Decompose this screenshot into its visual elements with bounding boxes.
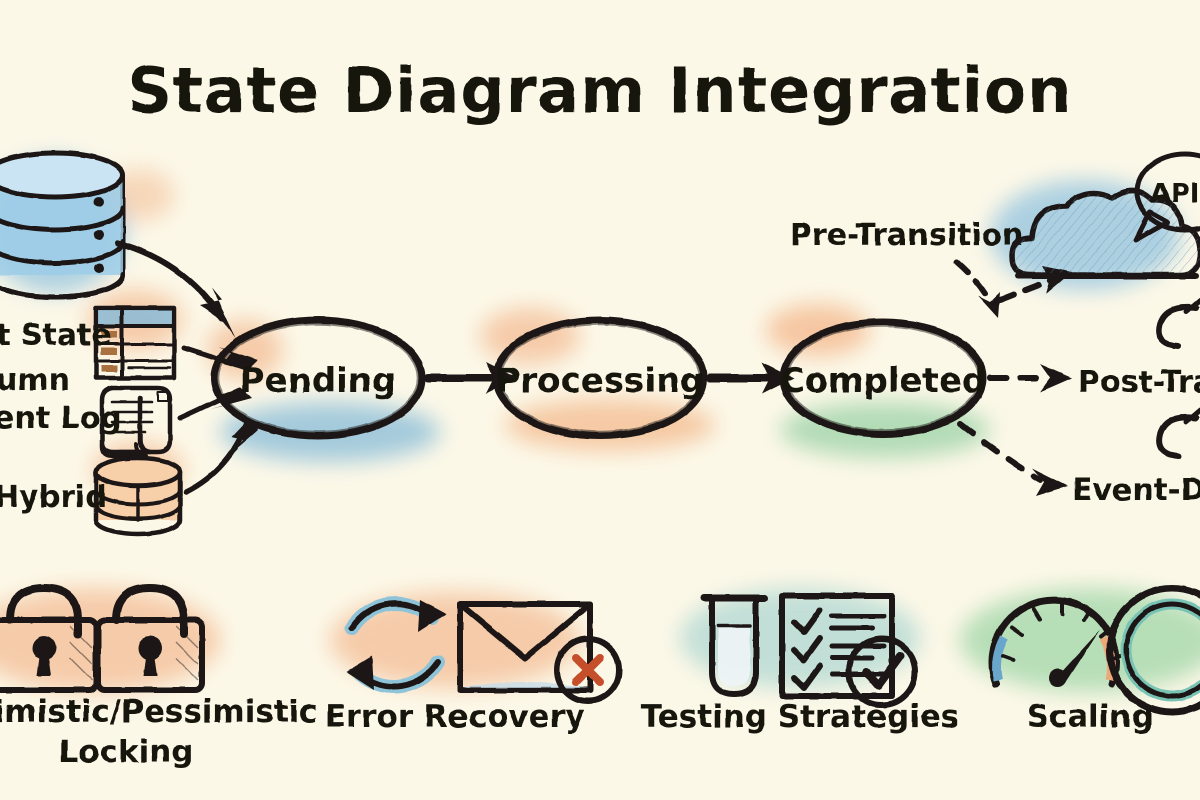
api-badge-label: API [1151, 179, 1200, 209]
state-label-processing: Processing [496, 361, 705, 401]
source-label-1: ent Log [0, 401, 122, 436]
source-label-2: Hybrid [0, 480, 107, 515]
hook-arrow-icon-0 [1159, 300, 1200, 346]
pre-transition-label: Pre-Transition [790, 218, 1023, 253]
concept-label-locking-line1: imistic/Pessimistic [0, 694, 318, 730]
state-label-completed: Completed [780, 361, 986, 401]
cylinder-icon [96, 458, 180, 534]
output-arrow-post-transition [990, 364, 1072, 392]
concept-label-locking-line2: Locking [59, 734, 194, 770]
page-title: State Diagram Integration [127, 54, 1072, 127]
hook-arrow-icon-1 [1159, 410, 1200, 456]
concept-label-scaling: Scaling [1026, 699, 1153, 735]
diagram-canvas: State Diagram Integration [0, 0, 1200, 800]
diagram-illustration: State Diagram Integration [0, 0, 1200, 800]
concept-label-testing: Testing Strategies [641, 699, 960, 735]
source-label-0-line1: t State [0, 318, 112, 353]
output-label-post-transition: Post-Tra [1078, 365, 1200, 400]
concept-label-error-recovery: Error Recovery [325, 699, 585, 735]
state-label-pending: Pending [240, 361, 397, 401]
output-label-event-driven: Event-Dr [1072, 473, 1200, 508]
source-label-0-line2: umn [0, 363, 70, 398]
